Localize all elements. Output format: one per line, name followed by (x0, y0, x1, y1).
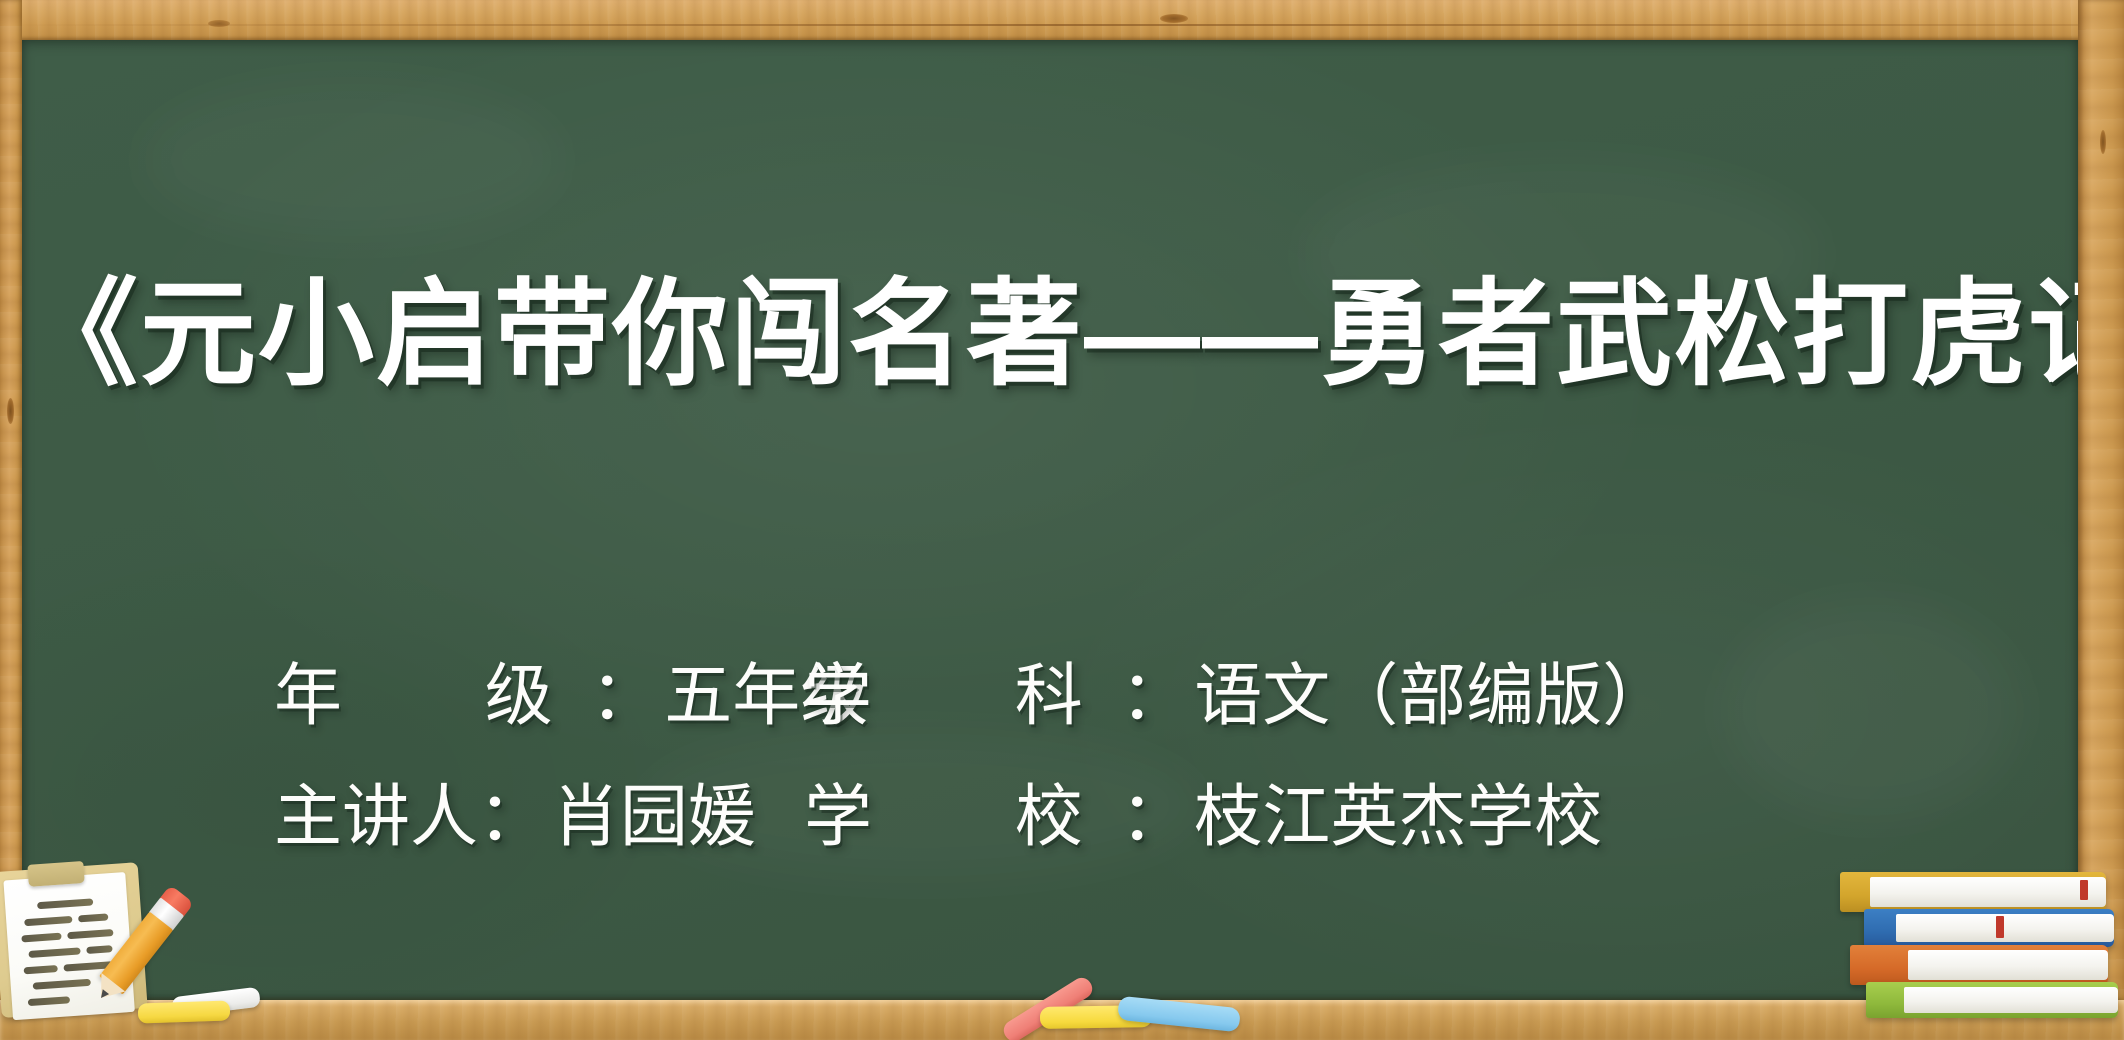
info-row: 年 级 ： 五年级 学 科 ： 语文（部编版） (274, 640, 2078, 739)
slide-root: 《元小启带你闯名著——勇者武松打虎记》 年 级 ： 五年级 学 科 ： 语文（部… (0, 0, 2124, 1040)
wood-knot-icon (208, 20, 230, 27)
info-field-grade: 年 级 ： 五年级 (274, 640, 804, 739)
chalk-stick-yellow (138, 1000, 231, 1023)
book-green (1866, 982, 2118, 1018)
book-stack-icon (1828, 866, 2118, 1018)
book-blue (1864, 909, 2114, 947)
info-colon: ： (1120, 640, 1188, 739)
info-label: 主讲人 (274, 761, 478, 860)
info-label: 学 校 (804, 761, 1120, 860)
wood-knot-icon (7, 398, 14, 424)
info-colon: ： (1120, 761, 1188, 860)
chalkboard-surface: 《元小启带你闯名著——勇者武松打虎记》 年 级 ： 五年级 学 科 ： 语文（部… (22, 40, 2078, 1000)
info-label: 学 科 (804, 640, 1120, 739)
clipboard-clip (27, 861, 84, 887)
frame-plank-top (0, 0, 2124, 40)
wood-knot-icon (2100, 130, 2106, 154)
info-value: 语文（部编版） (1194, 640, 1670, 739)
book-orange (1850, 945, 2108, 985)
lesson-title: 《元小启带你闯名著——勇者武松打虎记》 (22, 272, 2078, 397)
info-field-subject: 学 科 ： 语文（部编版） (804, 640, 1704, 739)
chalk-dust-smudge (142, 80, 562, 240)
info-field-presenter: 主讲人 ： 肖园媛 (274, 761, 804, 860)
info-value: 枝江英杰学校 (1194, 761, 1602, 860)
lesson-info-grid: 年 级 ： 五年级 学 科 ： 语文（部编版） 主讲人 ： 肖园媛 学 校 (22, 640, 2078, 860)
title-block: 《元小启带你闯名著——勇者武松打虎记》 (22, 272, 2078, 397)
wood-knot-icon (1160, 14, 1188, 23)
info-colon: ： (478, 761, 546, 860)
info-colon: ： (590, 640, 658, 739)
info-row: 主讲人 ： 肖园媛 学 校 ： 枝江英杰学校 (274, 761, 2078, 860)
book-gold (1840, 872, 2106, 912)
info-value: 肖园媛 (552, 761, 756, 860)
info-field-school: 学 校 ： 枝江英杰学校 (804, 761, 1704, 860)
info-label: 年 级 (274, 640, 590, 739)
